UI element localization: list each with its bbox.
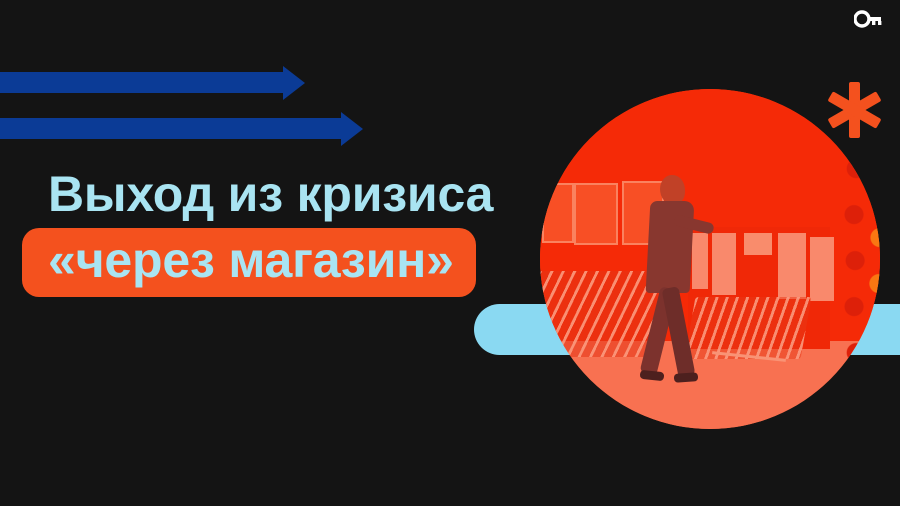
title-highlight-pill: «через магазин»	[22, 228, 476, 297]
arrow-bottom-head	[341, 112, 363, 146]
store-photo	[540, 89, 880, 429]
duotone-overlay	[540, 89, 880, 429]
headline-block: Выход из кризиса «через магазин»	[0, 166, 560, 297]
arrow-top-head	[283, 66, 305, 100]
arrow-bottom-shaft	[0, 118, 341, 139]
asterisk-icon	[826, 80, 882, 140]
title-line-secondary: «через магазин»	[48, 232, 454, 289]
brand-logo-icon	[854, 8, 884, 30]
title-line-primary: Выход из кризиса	[48, 166, 560, 223]
slide-canvas: Выход из кризиса «через магазин»	[0, 0, 900, 506]
arrow-top-shaft	[0, 72, 283, 93]
